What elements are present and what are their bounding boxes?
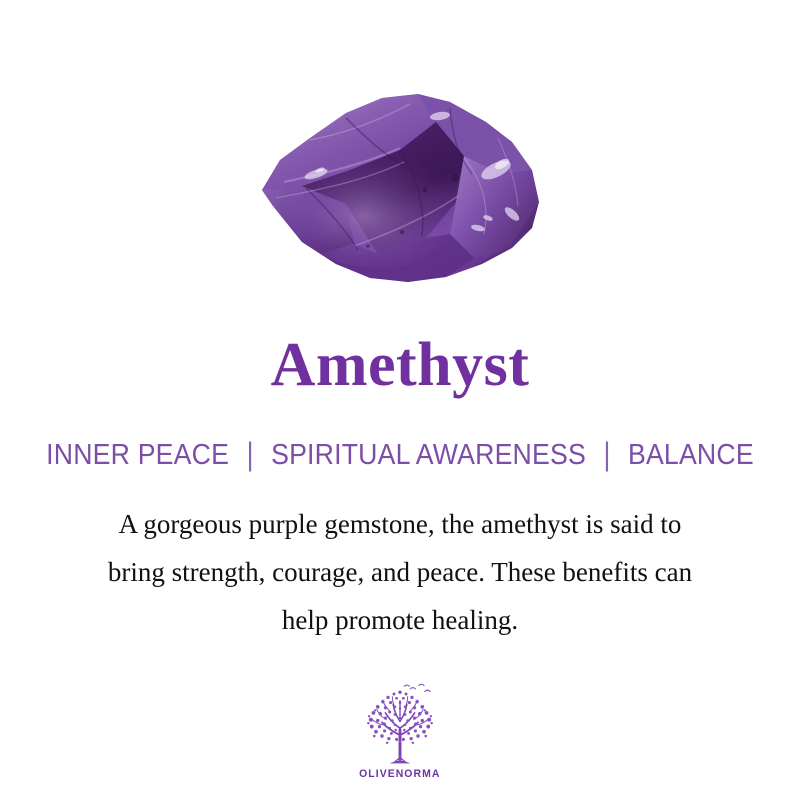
description-line-1: A gorgeous purple gemstone, the amethyst… — [60, 500, 740, 548]
keyword-balance: BALANCE — [628, 439, 754, 471]
amethyst-crystal-image — [250, 78, 550, 298]
brand-name: OLIVENORMA — [359, 768, 440, 780]
brand-logo: OLIVENORMA — [0, 682, 800, 780]
crystal-body — [250, 78, 550, 298]
page-title: Amethyst — [0, 334, 800, 396]
keyword-inner-peace: INNER PEACE — [46, 439, 229, 471]
amethyst-crystal-illustration — [250, 78, 550, 298]
description-text: A gorgeous purple gemstone, the amethyst… — [60, 500, 740, 644]
tree-of-life-icon — [357, 682, 443, 766]
keyword-spiritual-awareness: SPIRITUAL AWARENESS — [271, 439, 586, 471]
keyword-separator-2: | — [593, 439, 620, 471]
amethyst-info-card: Amethyst INNER PEACE | SPIRITUAL AWARENE… — [0, 0, 800, 800]
description-line-2: bring strength, courage, and peace. Thes… — [60, 548, 740, 596]
keyword-list: INNER PEACE | SPIRITUAL AWARENESS | BALA… — [32, 441, 768, 470]
description-line-3: help promote healing. — [60, 596, 740, 644]
keyword-separator-1: | — [236, 439, 263, 471]
